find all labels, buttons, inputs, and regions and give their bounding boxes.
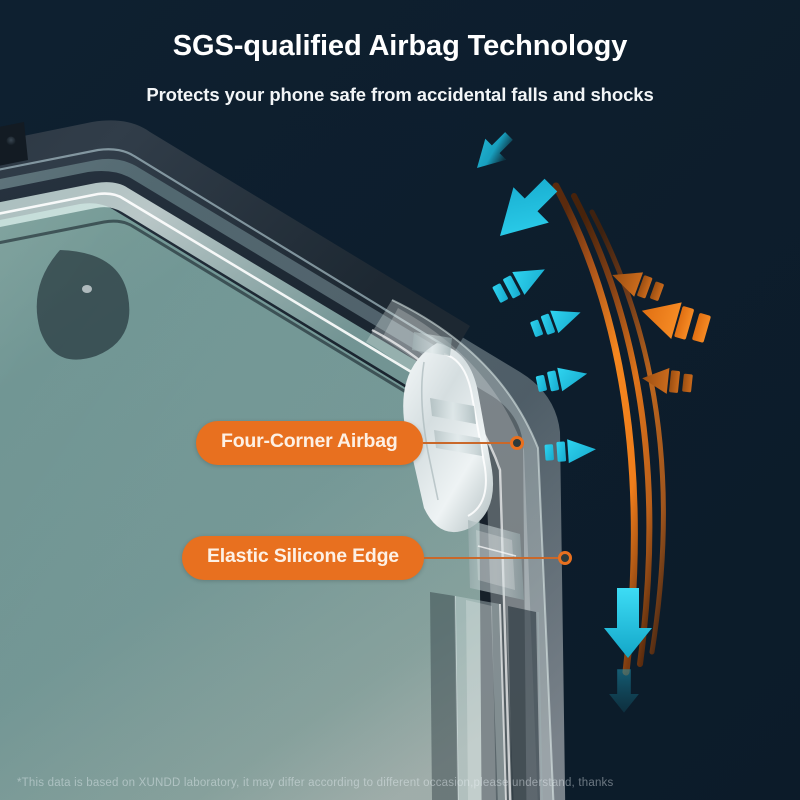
callout-target-marker-icon (510, 436, 524, 450)
product-photo (0, 0, 800, 800)
page-title: SGS-qualified Airbag Technology (0, 30, 800, 63)
header: SGS-qualified Airbag Technology Protects… (0, 0, 800, 120)
callout-leader-line (423, 442, 511, 444)
callout-label: Four-Corner Airbag (196, 421, 423, 465)
callout-label: Elastic Silicone Edge (182, 536, 424, 580)
callout-target-marker-icon (558, 551, 572, 565)
callout-elastic-silicone-edge[interactable]: Elastic Silicone Edge (182, 536, 572, 580)
page-subtitle: Protects your phone safe from accidental… (0, 84, 800, 106)
disclaimer-note: *This data is based on XUNDD laboratory,… (17, 777, 613, 789)
product-feature-image: SGS-qualified Airbag Technology Protects… (0, 0, 800, 800)
callout-leader-line (424, 557, 559, 559)
callout-four-corner-airbag[interactable]: Four-Corner Airbag (196, 421, 524, 465)
